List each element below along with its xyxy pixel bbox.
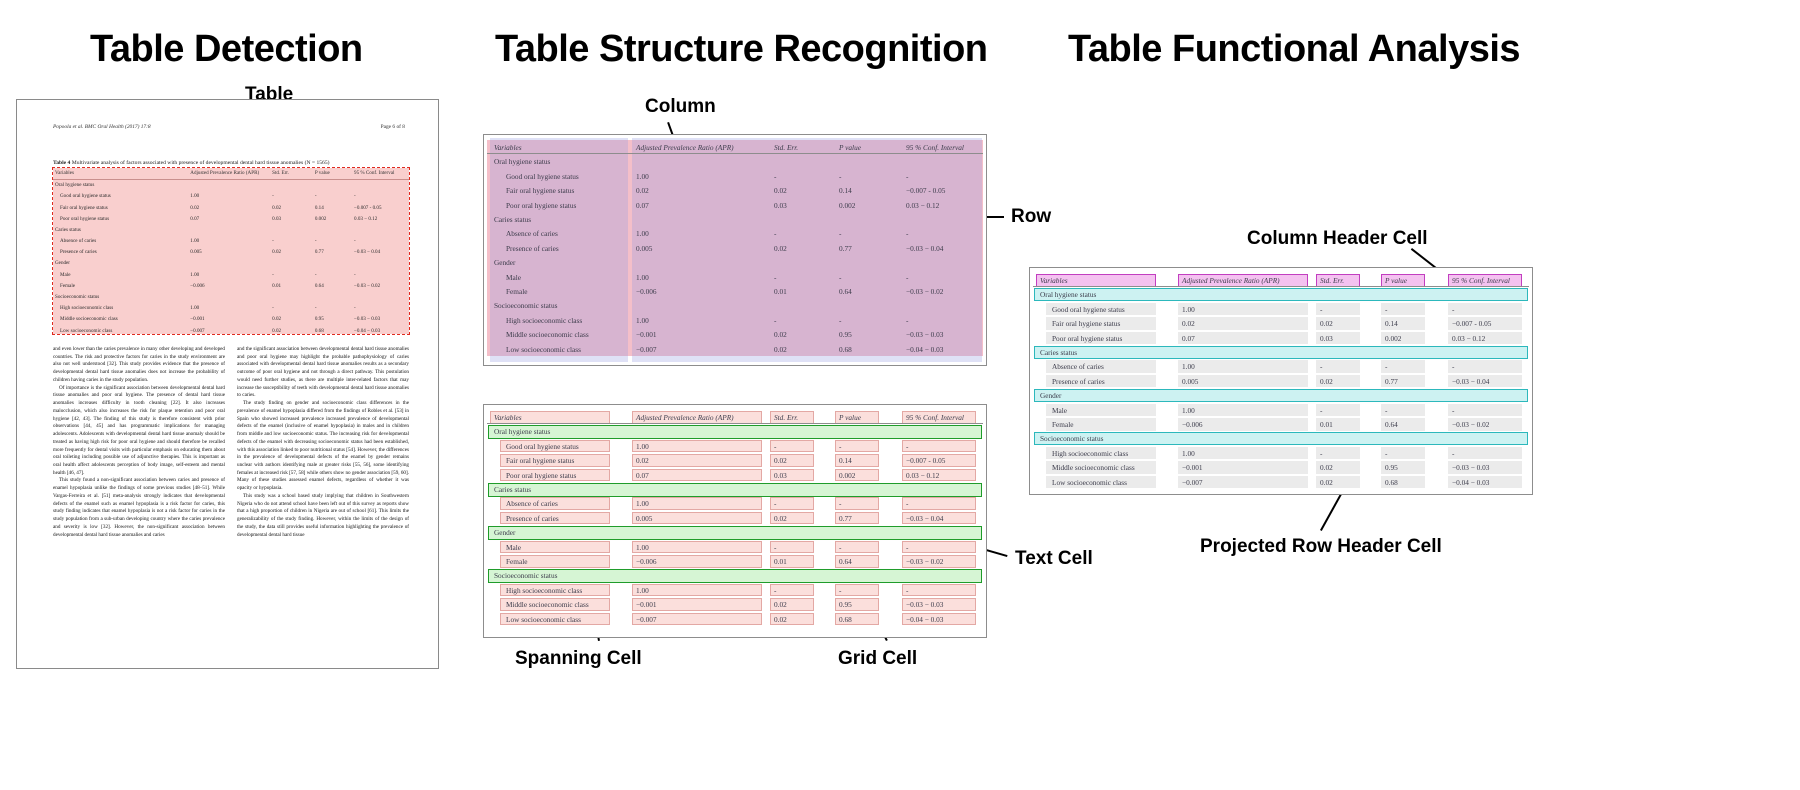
table-cell-label: Caries status [53,224,188,235]
cell-text: −0.04 − 0.03 [906,615,943,624]
table-cell-value: −0.03 − 0.04 [352,247,409,258]
cell-text: 0.005 [636,514,652,523]
cell-text: Adjusted Prevalence Ratio (APR) [636,413,734,422]
cell-text: 0.68 [1385,478,1398,487]
callout-grid-cell: Grid Cell [838,648,917,670]
cell-text: 0.95 [839,600,852,609]
table-cell-value: 0.03 [270,213,313,224]
cell-text: 0.002 [1385,334,1401,343]
table-cell-value: - [313,236,352,247]
cell-text: 0.64 [839,557,852,566]
table-cell-value: - [270,303,313,314]
row-text: Absence of caries1.00--- [484,496,986,510]
cell-text: 0.07 [636,471,649,480]
cell-text: - [1385,406,1387,415]
cell-text: Male [1052,406,1067,415]
table-cell-value: −0.001 [188,314,270,325]
column-header-conf-int: 95 % Conf. Interval [352,168,409,179]
row-text: Absence of caries1.00--- [1030,359,1532,373]
cell-text: 0.07 [636,201,649,210]
table-cell-value: −0.007 [188,325,270,336]
table-cell-value [313,291,352,302]
cell-text: 0.02 [636,456,649,465]
cell-text: 0.64 [839,287,852,296]
cell-text: 0.03 − 0.12 [906,201,939,210]
table-cell-label: Fair oral hygiene status [53,202,188,213]
cell-text: 1.00 [1182,362,1195,371]
cell-text: Adjusted Prevalence Ratio (APR) [636,143,734,152]
cell-text: −0.001 [636,600,657,609]
cell-text: −0.001 [636,330,657,339]
cell-text: - [906,543,908,552]
cell-text: Good oral hygiene status [506,442,579,451]
cell-text: 0.02 [1320,319,1333,328]
row-text: Fair oral hygiene status0.020.020.14−0.0… [484,453,986,467]
cell-text: 1.00 [1182,406,1195,415]
table-cell-value [352,179,409,191]
document-body-text: and even lower than the caries prevalenc… [53,346,409,656]
cell-text: - [774,172,776,181]
row-text: Poor oral hygiene status0.070.030.0020.0… [484,198,986,212]
detected-table-region[interactable]: Variables Adjusted Prevalence Ratio (APR… [53,168,409,334]
table-cell-value [352,291,409,302]
cell-text: 0.01 [774,557,787,566]
cell-text: 0.01 [774,287,787,296]
table-cell-value: - [270,191,313,202]
cell-text: Socioeconomic status [494,301,557,310]
paragraph: and even lower than the caries prevalenc… [53,346,225,385]
row-text: Male1.00--- [484,540,986,554]
cell-text: - [1452,449,1454,458]
table-cell-value [313,224,352,235]
table-functional-analysis-visualization[interactable]: VariablesAdjusted Prevalence Ratio (APR)… [1029,267,1533,495]
cell-text: Female [506,287,527,296]
column-header-p-value: P value [313,168,352,179]
row-text: Middle socioeconomic class−0.0010.020.95… [484,597,986,611]
cell-text: 0.68 [839,615,852,624]
row-text: Oral hygiene status [484,424,986,438]
cell-text: 0.02 [636,186,649,195]
table-cell-value: 1.00 [188,236,270,247]
cell-text: Presence of caries [506,244,559,253]
table-cell-value: - [313,269,352,280]
cell-text: Absence of caries [506,499,558,508]
cell-text: 1.00 [636,229,649,238]
cell-text: −0.03 − 0.03 [906,330,943,339]
callout-projected-row-header-cell: Projected Row Header Cell [1200,536,1442,558]
callout-column: Column [645,96,716,118]
cell-text: High socioeconomic class [506,586,582,595]
row-text: High socioeconomic class1.00--- [484,313,986,327]
table-cell-value: 0.14 [313,202,352,213]
cell-text: 1.00 [636,172,649,181]
cell-text: 0.64 [1385,420,1398,429]
cell-text: Gender [1040,391,1061,400]
table-cell-value: 0.005 [188,247,270,258]
cell-text: Female [506,557,527,566]
cell-text: 0.02 [774,345,787,354]
row-text: High socioeconomic class1.00--- [484,583,986,597]
cell-text: 1.00 [636,316,649,325]
cell-text: −0.03 − 0.02 [906,287,943,296]
cell-text: Caries status [494,485,531,494]
table-row: Caries status [53,224,409,235]
page-title-table-detection: Table Detection [90,28,363,71]
table-cell-value: −0.007 - 0.05 [352,202,409,213]
table-cell-value [352,258,409,269]
cell-text: - [1452,305,1454,314]
row-text: Poor oral hygiene status0.070.030.0020.0… [1030,331,1532,345]
table-cell-value: 0.64 [313,280,352,291]
cell-text: Caries status [1040,348,1077,357]
cell-text: 0.14 [839,456,852,465]
cell-text: Oral hygiene status [494,157,550,166]
functional-overlay: VariablesAdjusted Prevalence Ratio (APR)… [1030,268,1532,494]
cell-text: Fair oral hygiene status [506,186,574,195]
row-text: Fair oral hygiene status0.020.020.14−0.0… [1030,316,1532,330]
table-cell-value [270,224,313,235]
cell-text: - [774,442,776,451]
cell-text: High socioeconomic class [506,316,582,325]
cell-text: −0.04 − 0.03 [906,345,943,354]
cell-text: Socioeconomic status [1040,434,1103,443]
cell-text: Std. Err. [1320,276,1344,285]
cell-text: Male [506,273,521,282]
cell-text: - [774,543,776,552]
cell-text: - [906,229,908,238]
table-cell-label: Poor oral hygiene status [53,213,188,224]
cell-text: Caries status [494,215,531,224]
table-cell-value: 0.77 [313,247,352,258]
table-row: Presence of caries0.0050.020.77−0.03 − 0… [53,247,409,258]
cell-text: −0.006 [1182,420,1203,429]
row-text: Gender [1030,388,1532,402]
table-cell-value: 0.01 [270,280,313,291]
cell-text: Fair oral hygiene status [506,456,574,465]
cell-text: 0.03 [774,201,787,210]
table-cell-label: Absence of caries [53,236,188,247]
row-text: Good oral hygiene status1.00--- [1030,302,1532,316]
cell-text: −0.007 [636,345,657,354]
row-column-overlay: VariablesAdjusted Prevalence Ratio (APR)… [484,135,986,365]
table-cell-value [270,291,313,302]
row-text: Good oral hygiene status1.00--- [484,439,986,453]
document-page: Popoola et al. BMC Oral Health (2017) 17… [16,99,439,669]
cell-text: 0.03 − 0.12 [906,471,939,480]
table-cell-value: - [352,303,409,314]
table-cell-value: −0.04 − 0.03 [352,325,409,336]
row-text: Low socioeconomic class−0.0070.020.68−0.… [484,612,986,626]
table-row: Good oral hygiene status1.00--- [53,191,409,202]
cell-text: Poor oral hygiene status [1052,334,1122,343]
table-cell-value: 0.002 [313,213,352,224]
cell-text: −0.007 [1182,478,1203,487]
table-cell-value: 0.02 [270,314,313,325]
table-cell-value [270,258,313,269]
table-cell-value: 1.00 [188,303,270,314]
cell-text: - [774,229,776,238]
cell-text: 1.00 [1182,305,1195,314]
table-caption-label: Table 4 [53,160,70,166]
row-text: Low socioeconomic class−0.0070.020.68−0.… [484,342,986,356]
table-row: Oral hygiene status [53,179,409,191]
body-column-left: and even lower than the caries prevalenc… [53,346,225,656]
cell-text: 0.03 [774,471,787,480]
row-text: Gender [484,255,986,269]
row-text: Female−0.0060.010.64−0.03 − 0.02 [1030,417,1532,431]
cell-text: −0.03 − 0.02 [906,557,943,566]
cell-text: 0.02 [774,600,787,609]
row-text: Oral hygiene status [484,154,986,168]
cell-text: 0.77 [839,244,852,253]
cell-text: 95 % Conf. Interval [1452,276,1510,285]
cell-text: Variables [1040,276,1068,285]
cell-text: Low socioeconomic class [506,615,581,624]
cell-text: Oral hygiene status [494,427,550,436]
table-row: Socioeconomic status [53,291,409,302]
column-header-apr: Adjusted Prevalence Ratio (APR) [188,168,270,179]
cell-text: - [839,229,841,238]
cell-text: −0.007 - 0.05 [906,186,945,195]
cell-text: Absence of caries [1052,362,1104,371]
table-row: Middle socioeconomic class−0.0010.020.95… [53,314,409,325]
cell-text: - [906,586,908,595]
table-caption: Table 4 Multivariate analysis of factors… [53,160,408,166]
table-row: Poor oral hygiene status0.070.030.0020.0… [53,213,409,224]
table-row: Gender [53,258,409,269]
cell-text: - [839,543,841,552]
cell-text: - [839,316,841,325]
cell-text: Poor oral hygiene status [506,201,576,210]
cell-text: Absence of caries [506,229,558,238]
cell-text: P value [839,413,861,422]
cell-text: 0.02 [774,186,787,195]
table-cell-value: - [270,269,313,280]
row-text: Presence of caries0.0050.020.77−0.03 − 0… [484,511,986,525]
cell-text: 0.005 [1182,377,1198,386]
document-running-head: Popoola et al. BMC Oral Health (2017) 17… [53,124,405,130]
cell-text: - [774,499,776,508]
cell-text: - [1320,362,1322,371]
cell-text: 0.02 [1320,478,1333,487]
table-cell-value [352,224,409,235]
cell-text: - [906,442,908,451]
table-cell-value: 0.02 [270,325,313,336]
cell-text: −0.03 − 0.02 [1452,420,1489,429]
cell-text: 0.68 [839,345,852,354]
cell-text: 0.02 [1320,463,1333,472]
cell-text: 1.00 [1182,449,1195,458]
callout-text-cell: Text Cell [1015,548,1093,570]
cell-text: Poor oral hygiene status [506,471,576,480]
cell-text: - [774,273,776,282]
cell-text: - [906,273,908,282]
cell-text: 0.01 [1320,420,1333,429]
table-cell-value: 0.07 [188,213,270,224]
cell-text: −0.006 [636,287,657,296]
table-cell-label: High socioeconomic class [53,303,188,314]
cell-text: - [839,442,841,451]
table-cell-value: - [313,303,352,314]
callout-row: Row [1011,206,1051,228]
table-row: Female−0.0060.010.64−0.03 − 0.02 [53,280,409,291]
cell-text: 0.02 [774,615,787,624]
cell-text: 0.02 [774,514,787,523]
table-row: High socioeconomic class1.00--- [53,303,409,314]
cell-text: 0.005 [636,244,652,253]
cell-text: - [1385,305,1387,314]
cell-text: 0.95 [839,330,852,339]
paragraph: This study was a school based study impl… [237,493,409,539]
row-text: Low socioeconomic class−0.0070.020.68−0.… [1030,475,1532,489]
column-header-std-err: Std. Err. [270,168,313,179]
column-header-variables: Variables [53,168,188,179]
row-text: Socioeconomic status [1030,431,1532,445]
cell-text: −0.04 − 0.03 [1452,478,1489,487]
callout-column-header-cell: Column Header Cell [1247,228,1428,250]
cell-text: - [1320,449,1322,458]
table-cell-label: Socioeconomic status [53,291,188,302]
table-cell-value: −0.03 − 0.03 [352,314,409,325]
cell-overlay: VariablesAdjusted Prevalence Ratio (APR)… [484,405,986,637]
table-structure-cells-visualization[interactable]: VariablesAdjusted Prevalence Ratio (APR)… [483,404,987,638]
cell-text: −0.03 − 0.04 [1452,377,1489,386]
table-cell-label: Middle socioeconomic class [53,314,188,325]
cell-text: Variables [494,143,522,152]
row-text: Female−0.0060.010.64−0.03 − 0.02 [484,284,986,298]
table-cell-value: - [352,236,409,247]
cell-text: - [839,586,841,595]
cell-text: Presence of caries [1052,377,1105,386]
cell-text: - [1320,406,1322,415]
cell-text: 0.02 [774,244,787,253]
row-text: Good oral hygiene status1.00--- [484,169,986,183]
cell-text: −0.03 − 0.03 [1452,463,1489,472]
cell-text: - [906,172,908,181]
paragraph: This study found a non-significant assoc… [53,477,225,539]
table-structure-rows-columns-visualization[interactable]: VariablesAdjusted Prevalence Ratio (APR)… [483,134,987,366]
paragraph: Of importance is the significant associa… [53,385,225,478]
cell-text: −0.007 - 0.05 [1452,319,1491,328]
table-cell-value [313,258,352,269]
cell-text: - [1385,362,1387,371]
cell-text: Middle socioeconomic class [506,330,589,339]
cell-text: Female [1052,420,1073,429]
cell-text: 0.77 [839,514,852,523]
cell-text: 1.00 [636,543,649,552]
row-text: Middle socioeconomic class−0.0010.020.95… [1030,460,1532,474]
cell-text: 0.14 [839,186,852,195]
cell-text: 0.14 [1385,319,1398,328]
cell-text: Std. Err. [774,143,798,152]
row-text: Middle socioeconomic class−0.0010.020.95… [484,327,986,341]
row-text: Absence of caries1.00--- [484,226,986,240]
cell-text: 1.00 [636,273,649,282]
table-cell-value: 0.95 [313,314,352,325]
cell-text: −0.007 [636,615,657,624]
table-cell-value: 0.02 [270,202,313,213]
table-cell-label: Oral hygiene status [53,179,188,191]
cell-text: Good oral hygiene status [1052,305,1125,314]
row-text: Poor oral hygiene status0.070.030.0020.0… [484,468,986,482]
cell-text: - [906,499,908,508]
cell-text: 0.07 [1182,334,1195,343]
table-cell-value: - [352,191,409,202]
row-text: Socioeconomic status [484,568,986,582]
cell-text: 1.00 [636,442,649,451]
row-text: Socioeconomic status [484,298,986,312]
table-cell-value [188,224,270,235]
page-title-table-functional-analysis: Table Functional Analysis [1068,28,1520,71]
cell-text: Socioeconomic status [494,571,557,580]
body-column-right: and the significant association between … [237,346,409,656]
cell-text: Gender [494,528,515,537]
cell-text: Std. Err. [774,413,798,422]
journal-citation: Popoola et al. BMC Oral Health (2017) 17… [53,124,151,130]
row-text: Presence of caries0.0050.020.77−0.03 − 0… [1030,374,1532,388]
table-cell-value [188,258,270,269]
table-cell-label: Gender [53,258,188,269]
cell-text: 0.02 [1320,377,1333,386]
table-cell-value: - [313,191,352,202]
row-text: Oral hygiene status [1030,287,1532,301]
header-row-text: VariablesAdjusted Prevalence Ratio (APR)… [1030,273,1532,287]
cell-text: - [906,316,908,325]
row-text: Male1.00--- [484,270,986,284]
cell-text: −0.03 − 0.03 [906,600,943,609]
table-cell-value: 1.00 [188,269,270,280]
cell-text: 0.002 [839,471,855,480]
cell-text: - [1320,305,1322,314]
table-cell-value: - [270,236,313,247]
table-header-row: Variables Adjusted Prevalence Ratio (APR… [53,168,409,179]
row-text: Caries status [1030,345,1532,359]
cell-text: Presence of caries [506,514,559,523]
cell-text: 95 % Conf. Interval [906,143,964,152]
paragraph: and the significant association between … [237,346,409,400]
cell-text: Male [506,543,521,552]
table-cell-value [313,179,352,191]
cell-text: −0.03 − 0.04 [906,514,943,523]
cell-text: - [1385,449,1387,458]
cell-text: High socioeconomic class [1052,449,1128,458]
table-cell-value: 1.00 [188,191,270,202]
cell-text: - [774,586,776,595]
cell-text: Low socioeconomic class [1052,478,1127,487]
cell-text: 1.00 [636,499,649,508]
cell-text: Middle socioeconomic class [1052,463,1135,472]
table-cell-value: 0.02 [270,247,313,258]
table-cell-value: - [352,269,409,280]
cell-text: 0.02 [774,456,787,465]
cell-text: 1.00 [636,586,649,595]
page-title-table-structure-recognition: Table Structure Recognition [495,28,988,71]
table-caption-text: Multivariate analysis of factors associa… [70,160,329,166]
table-cell-label: Female [53,280,188,291]
cell-text: 0.02 [1182,319,1195,328]
document-table: Variables Adjusted Prevalence Ratio (APR… [53,168,409,336]
cell-text: Gender [494,258,515,267]
row-text: Caries status [484,482,986,496]
cell-text: Good oral hygiene status [506,172,579,181]
table-cell-value: 0.02 [188,202,270,213]
header-row-text: VariablesAdjusted Prevalence Ratio (APR)… [484,140,986,154]
row-text: Caries status [484,212,986,226]
cell-text: Fair oral hygiene status [1052,319,1120,328]
table-row: Low socioeconomic class−0.0070.020.68−0.… [53,325,409,336]
cell-text: - [1452,406,1454,415]
cell-text: - [839,172,841,181]
